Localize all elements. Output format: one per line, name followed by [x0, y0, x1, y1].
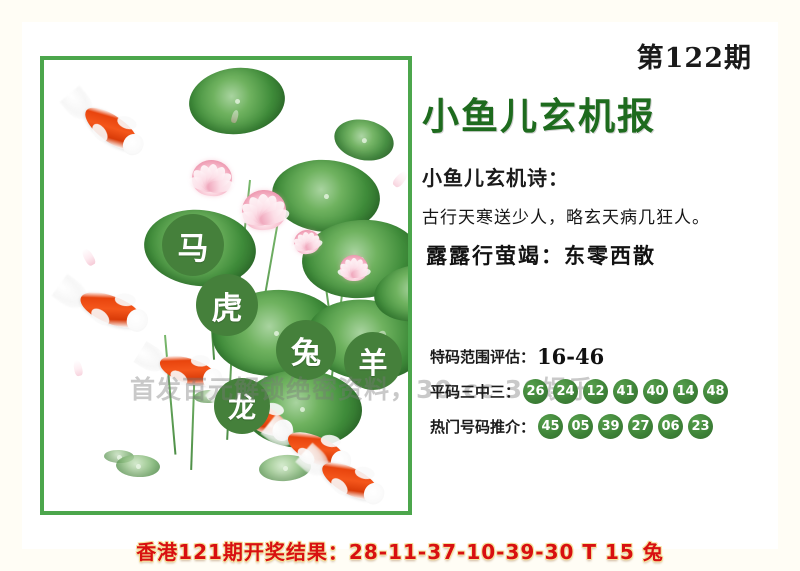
- right-column: 小鱼儿玄机报 小鱼儿玄机诗： 古行天寒送少人，略玄天病几狂人。 露露行萤竭：东零…: [422, 86, 762, 270]
- poem-line-1: 古行天寒送少人，略玄天病几狂人。: [422, 203, 762, 228]
- stat-row-range: 特码范围评估： 16-46: [430, 344, 780, 369]
- number-ball: 48: [703, 379, 728, 404]
- poster-root: 第122期 马 虎 兔 羊 龙 首发百元解锁绝密资料，30.cc 30娱乐 小鱼…: [0, 0, 800, 571]
- number-ball: 39: [598, 414, 623, 439]
- number-ball: 06: [658, 414, 683, 439]
- number-ball: 12: [583, 379, 608, 404]
- floating-petal: [391, 169, 408, 189]
- hot-label: 热门号码推介：: [430, 416, 535, 437]
- lotus-leaf: [186, 63, 288, 139]
- number-ball: 23: [688, 414, 713, 439]
- number-ball: 14: [673, 379, 698, 404]
- range-value: 16-46: [537, 344, 604, 369]
- number-ball: 40: [643, 379, 668, 404]
- stats-block: 特码范围评估： 16-46 平码三中三： 26241241401448 热门号码…: [430, 344, 780, 449]
- number-ball: 27: [628, 414, 653, 439]
- hot-ball-list: 450539270623: [538, 414, 713, 439]
- flat-three-label: 平码三中三：: [430, 381, 520, 402]
- poem-line-2: 露露行萤竭：东零西散: [426, 240, 762, 270]
- flat-three-ball-list: 26241241401448: [523, 379, 728, 404]
- range-label: 特码范围评估：: [430, 346, 535, 367]
- issue-number: 第122期: [637, 36, 752, 75]
- number-ball: 41: [613, 379, 638, 404]
- zodiac-circle-tiger: 虎: [196, 274, 258, 336]
- number-ball: 45: [538, 414, 563, 439]
- number-ball: 26: [523, 379, 548, 404]
- number-ball: 24: [553, 379, 578, 404]
- zodiac-circle-horse: 马: [162, 214, 224, 276]
- stat-row-hot: 热门号码推介： 450539270623: [430, 414, 780, 439]
- lotus-leaf: [330, 114, 397, 166]
- floating-petal: [72, 359, 83, 377]
- lotus-leaf: [115, 454, 160, 478]
- poem-label: 小鱼儿玄机诗：: [422, 162, 762, 191]
- result-banner: 香港121期开奖结果：28-11-37-10-39-30 T 15 兔: [0, 536, 800, 565]
- stat-row-flat-three: 平码三中三： 26241241401448: [430, 379, 780, 404]
- lotus-petal: [208, 178, 235, 193]
- number-ball: 05: [568, 414, 593, 439]
- floating-petal: [80, 247, 97, 267]
- illustration-frame: 马 虎 兔 羊 龙: [40, 56, 412, 515]
- lotus-flower: [190, 158, 234, 198]
- page-title: 小鱼儿玄机报: [422, 86, 762, 140]
- lotus-flower: [340, 255, 368, 281]
